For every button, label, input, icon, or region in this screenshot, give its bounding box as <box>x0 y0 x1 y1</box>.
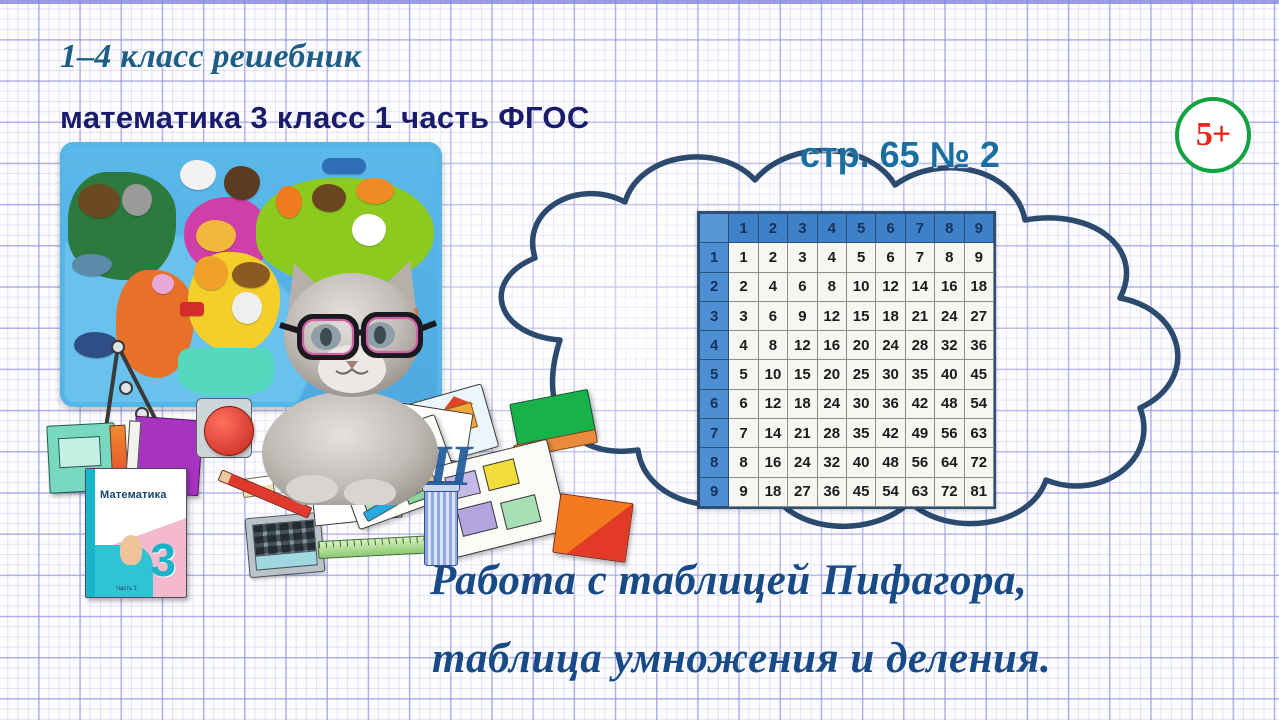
table-cell-8-4: 32 <box>817 448 846 477</box>
table-cell-6-3: 18 <box>788 389 817 418</box>
textbook-part-label: Часть 1 <box>116 586 137 592</box>
table-row-header-8: 8 <box>700 448 729 477</box>
table-cell-7-1: 7 <box>729 419 758 448</box>
table-cell-3-5: 15 <box>846 301 875 330</box>
table-row: 661218243036424854 <box>700 389 994 418</box>
table-row: 771421283542495663 <box>700 419 994 448</box>
table-cell-6-7: 42 <box>905 389 934 418</box>
notebook-shape <box>456 501 498 537</box>
table-col-header-5: 5 <box>846 214 875 243</box>
table-cell-1-8: 8 <box>935 243 964 272</box>
table-col-header-9: 9 <box>964 214 993 243</box>
table-cell-3-3: 9 <box>788 301 817 330</box>
table-row: 991827364554637281 <box>700 477 994 506</box>
table-cell-2-2: 4 <box>758 272 787 301</box>
caption-line-1: Работа с таблицей Пифагора, <box>430 556 1027 605</box>
book-cover-character <box>120 535 142 565</box>
table-cell-9-5: 45 <box>846 477 875 506</box>
table-row-header-5: 5 <box>700 360 729 389</box>
textbook-grade-number: 3 <box>150 537 176 583</box>
table-cell-3-2: 6 <box>758 301 787 330</box>
book-spine <box>86 469 95 597</box>
table-col-header-6: 6 <box>876 214 905 243</box>
table-cell-3-4: 12 <box>817 301 846 330</box>
table-cell-1-4: 4 <box>817 243 846 272</box>
table-cell-2-4: 8 <box>817 272 846 301</box>
page-title: математика 3 класс 1 часть ФГОС <box>60 100 590 136</box>
table-cell-5-4: 20 <box>817 360 846 389</box>
table-cell-8-9: 72 <box>964 448 993 477</box>
table-cell-9-8: 72 <box>935 477 964 506</box>
notebook-shape <box>500 494 542 530</box>
table-cell-3-6: 18 <box>876 301 905 330</box>
table-cell-1-6: 6 <box>876 243 905 272</box>
table-cell-9-3: 27 <box>788 477 817 506</box>
table-cell-8-1: 8 <box>729 448 758 477</box>
orange-book <box>552 493 634 563</box>
table-cell-1-7: 7 <box>905 243 934 272</box>
table-cell-3-8: 24 <box>935 301 964 330</box>
table-col-header-7: 7 <box>905 214 934 243</box>
red-ball <box>204 406 254 456</box>
table-cell-4-4: 16 <box>817 331 846 360</box>
table-cell-9-7: 63 <box>905 477 934 506</box>
table-cell-1-9: 9 <box>964 243 993 272</box>
table-cell-6-5: 30 <box>846 389 875 418</box>
table-cell-4-3: 12 <box>788 331 817 360</box>
table-row: 44812162024283236 <box>700 331 994 360</box>
table-cell-2-1: 2 <box>729 272 758 301</box>
table-cell-3-9: 27 <box>964 301 993 330</box>
table-cell-7-4: 28 <box>817 419 846 448</box>
table-corner-cell <box>700 214 729 243</box>
table-cell-5-2: 10 <box>758 360 787 389</box>
table-cell-1-1: 1 <box>729 243 758 272</box>
table-row-header-1: 1 <box>700 243 729 272</box>
table-cell-5-8: 40 <box>935 360 964 389</box>
table-row-header-9: 9 <box>700 477 729 506</box>
table-cell-5-9: 45 <box>964 360 993 389</box>
table-cell-6-6: 36 <box>876 389 905 418</box>
table-cell-9-9: 81 <box>964 477 993 506</box>
table-cell-1-3: 3 <box>788 243 817 272</box>
table-cell-3-7: 21 <box>905 301 934 330</box>
table-cell-2-9: 18 <box>964 272 993 301</box>
table-cell-9-1: 9 <box>729 477 758 506</box>
table-cell-8-3: 24 <box>788 448 817 477</box>
slide-canvas: Математика 3 Часть 1 Ш <box>0 0 1279 720</box>
table-col-header-4: 4 <box>817 214 846 243</box>
table-row-header-2: 2 <box>700 272 729 301</box>
table-cell-8-5: 40 <box>846 448 875 477</box>
age-rating-badge: 5+ <box>1175 97 1251 173</box>
table-col-header-1: 1 <box>729 214 758 243</box>
table-cell-2-8: 16 <box>935 272 964 301</box>
table-cell-1-2: 2 <box>758 243 787 272</box>
table-cell-7-2: 14 <box>758 419 787 448</box>
table-cell-6-1: 6 <box>729 389 758 418</box>
table-cell-4-8: 32 <box>935 331 964 360</box>
table-header-row: 123456789 <box>700 214 994 243</box>
table-row-header-7: 7 <box>700 419 729 448</box>
table-cell-1-5: 5 <box>846 243 875 272</box>
table-cell-5-3: 15 <box>788 360 817 389</box>
table-row-header-3: 3 <box>700 301 729 330</box>
cat-with-glasses <box>250 243 455 505</box>
table-cell-7-6: 42 <box>876 419 905 448</box>
ruler <box>318 535 439 559</box>
table-cell-4-1: 4 <box>729 331 758 360</box>
top-border-line <box>0 0 1279 4</box>
table-cell-7-9: 63 <box>964 419 993 448</box>
multiplication-table: 1234567891123456789224681012141618336912… <box>699 213 994 507</box>
table-cell-7-3: 21 <box>788 419 817 448</box>
table-cell-9-4: 36 <box>817 477 846 506</box>
table-cell-2-3: 6 <box>788 272 817 301</box>
table-cell-8-2: 16 <box>758 448 787 477</box>
table-cell-4-6: 24 <box>876 331 905 360</box>
table-cell-3-1: 3 <box>729 301 758 330</box>
table-cell-8-8: 64 <box>935 448 964 477</box>
table-cell-7-8: 56 <box>935 419 964 448</box>
age-rating-label: 5+ <box>1196 118 1230 152</box>
notebook-shape <box>483 458 520 491</box>
table-cell-9-6: 54 <box>876 477 905 506</box>
table-cell-6-2: 12 <box>758 389 787 418</box>
table-cell-2-5: 10 <box>846 272 875 301</box>
table-cell-5-1: 5 <box>729 360 758 389</box>
table-col-header-3: 3 <box>788 214 817 243</box>
math-textbook: Математика 3 Часть 1 <box>85 468 187 598</box>
table-cell-2-7: 14 <box>905 272 934 301</box>
table-cell-8-6: 48 <box>876 448 905 477</box>
table-cell-5-5: 25 <box>846 360 875 389</box>
textbook-title: Математика <box>100 489 167 501</box>
page-reference: стр. 65 № 2 <box>800 134 1000 176</box>
pythagoras-multiplication-table: 1234567891123456789224681012141618336912… <box>697 211 996 509</box>
table-cell-4-2: 8 <box>758 331 787 360</box>
table-row-header-6: 6 <box>700 389 729 418</box>
table-cell-9-2: 18 <box>758 477 787 506</box>
table-col-header-8: 8 <box>935 214 964 243</box>
table-row-header-4: 4 <box>700 331 729 360</box>
table-cell-8-7: 56 <box>905 448 934 477</box>
table-cell-6-8: 48 <box>935 389 964 418</box>
table-cell-7-7: 49 <box>905 419 934 448</box>
table-cell-4-9: 36 <box>964 331 993 360</box>
table-cell-2-6: 12 <box>876 272 905 301</box>
table-row: 551015202530354045 <box>700 360 994 389</box>
table-cell-5-6: 30 <box>876 360 905 389</box>
caption-line-2: таблица умножения и деления. <box>432 634 1051 683</box>
table-cell-7-5: 35 <box>846 419 875 448</box>
table-row: 1123456789 <box>700 243 994 272</box>
calculator <box>245 512 326 578</box>
table-row: 224681012141618 <box>700 272 994 301</box>
table-col-header-2: 2 <box>758 214 787 243</box>
table-row: 881624324048566472 <box>700 448 994 477</box>
table-row: 3369121518212427 <box>700 301 994 330</box>
table-cell-4-7: 28 <box>905 331 934 360</box>
table-cell-5-7: 35 <box>905 360 934 389</box>
table-cell-6-4: 24 <box>817 389 846 418</box>
table-cell-6-9: 54 <box>964 389 993 418</box>
table-cell-4-5: 20 <box>846 331 875 360</box>
subtitle-grade-range: 1–4 класс решебник <box>60 38 361 76</box>
